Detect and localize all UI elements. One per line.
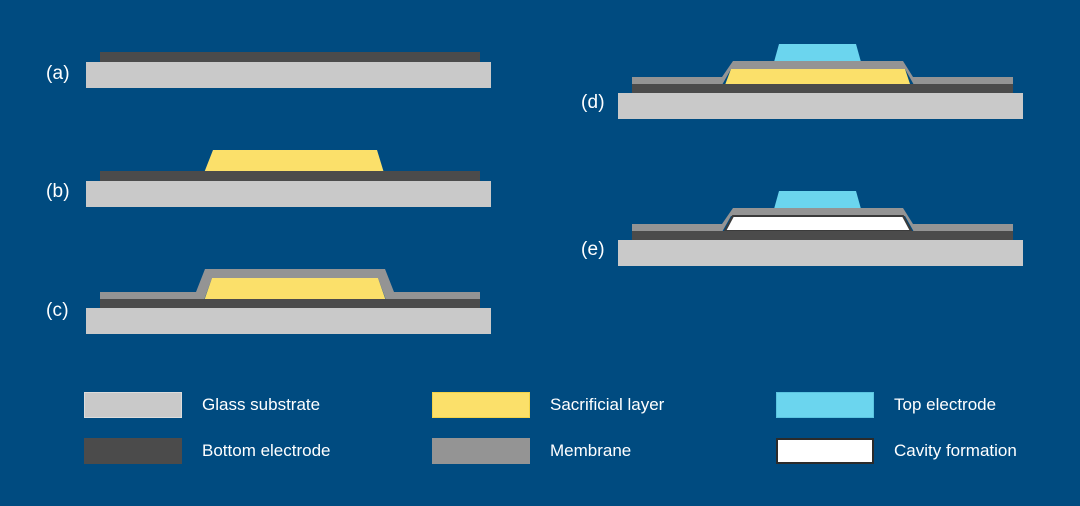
panel-e-cavity-formation bbox=[725, 216, 911, 231]
panel-label-b: (b) bbox=[46, 181, 70, 203]
legend-label-cavity-formation: Cavity formation bbox=[894, 441, 1017, 461]
panel-a-glass-substrate bbox=[86, 62, 491, 88]
panel-b-bottom-electrode bbox=[100, 171, 480, 182]
panel-label-a: (a) bbox=[46, 63, 70, 85]
panel-e-top-electrode bbox=[774, 191, 861, 209]
panel-e-group bbox=[618, 191, 1023, 266]
panel-c-sacrificial-layer bbox=[204, 278, 386, 301]
legend-item-sacrificial-layer: Sacrificial layer bbox=[432, 392, 664, 418]
panel-d-glass-substrate bbox=[618, 93, 1023, 119]
legend-swatch-membrane bbox=[432, 438, 530, 464]
legend-label-glass-substrate: Glass substrate bbox=[202, 395, 320, 415]
legend-label-sacrificial-layer: Sacrificial layer bbox=[550, 395, 664, 415]
panel-c-group bbox=[86, 269, 491, 334]
figure-canvas: (a) (b) (c) (d) (e) Glass substrate Bott… bbox=[0, 0, 1080, 506]
panel-a-group bbox=[86, 52, 491, 88]
legend-item-membrane: Membrane bbox=[432, 438, 631, 464]
panel-c-glass-substrate bbox=[86, 308, 491, 334]
legend-item-bottom-electrode: Bottom electrode bbox=[84, 438, 331, 464]
legend-swatch-glass-substrate bbox=[84, 392, 182, 418]
legend-label-membrane: Membrane bbox=[550, 441, 631, 461]
legend-item-glass-substrate: Glass substrate bbox=[84, 392, 320, 418]
panel-d-group bbox=[618, 44, 1023, 119]
panel-a-bottom-electrode bbox=[100, 52, 480, 63]
panel-b-group bbox=[86, 150, 491, 207]
panel-b-sacrificial-layer bbox=[204, 150, 384, 173]
legend-item-cavity-formation: Cavity formation bbox=[776, 438, 1017, 464]
panel-b-glass-substrate bbox=[86, 181, 491, 207]
panel-e-glass-substrate bbox=[618, 240, 1023, 266]
legend-label-top-electrode: Top electrode bbox=[894, 395, 996, 415]
legend-swatch-sacrificial-layer bbox=[432, 392, 530, 418]
panel-d-top-electrode bbox=[774, 44, 861, 62]
legend-label-bottom-electrode: Bottom electrode bbox=[202, 441, 331, 461]
legend-swatch-top-electrode bbox=[776, 392, 874, 418]
panel-label-e: (e) bbox=[581, 239, 605, 261]
legend: Glass substrate Bottom electrode Sacrifi… bbox=[0, 382, 1080, 482]
legend-item-top-electrode: Top electrode bbox=[776, 392, 996, 418]
legend-swatch-cavity-formation bbox=[776, 438, 874, 464]
panel-label-c: (c) bbox=[46, 300, 69, 322]
legend-swatch-bottom-electrode bbox=[84, 438, 182, 464]
panel-label-d: (d) bbox=[581, 92, 605, 114]
